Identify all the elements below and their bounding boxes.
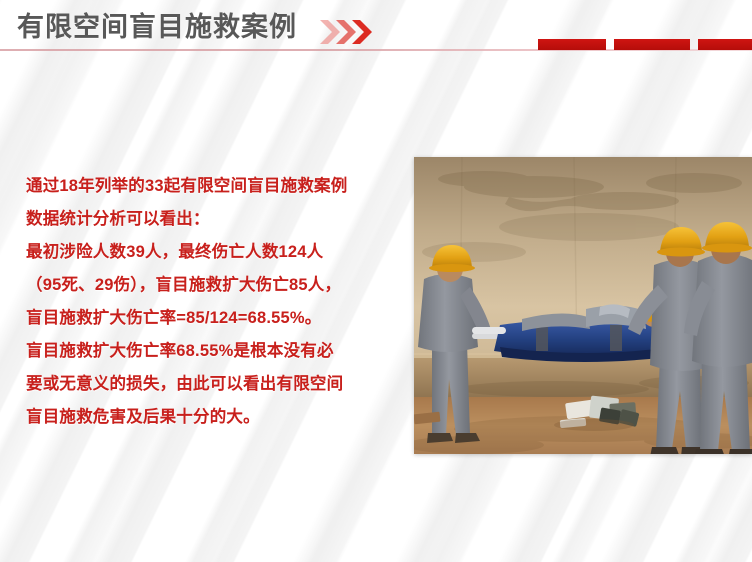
paragraph-line: 盲目施救扩大伤亡率=85/124=68.55%。 (26, 302, 408, 335)
accent-bar-gap (690, 39, 698, 50)
paragraph-line: 数据统计分析可以看出： (26, 203, 408, 236)
header-accent-bar (538, 39, 752, 50)
paragraph-line: 盲目施救扩大伤亡率68.55%是根本没有必 (26, 335, 408, 368)
rescue-photo (414, 157, 752, 454)
accent-bar-segment (698, 39, 752, 50)
paragraph-line: （95死、29伤），盲目施救扩大伤亡85人， (26, 269, 408, 302)
accent-bar-gap (606, 39, 614, 50)
paragraph-line: 盲目施救危害及后果十分的大。 (26, 401, 408, 434)
paragraph-line: 要或无意义的损失，由此可以看出有限空间 (26, 368, 408, 401)
page-title: 有限空间盲目施救案例 (17, 10, 297, 44)
paragraph-line: 通过18年列举的33起有限空间盲目施救案例 (26, 170, 408, 203)
accent-bar-segment (614, 39, 690, 50)
slide-header: 有限空间盲目施救案例 (0, 0, 752, 58)
slide-canvas: 有限空间盲目施救案例 通过18年列举的33起有限空间盲目施救案例 数据统计分析可… (0, 0, 752, 562)
triple-chevron-right-icon (318, 19, 378, 45)
accent-bar-segment (538, 39, 606, 50)
paragraph-line: 最初涉险人数39人，最终伤亡人数124人 (26, 236, 408, 269)
content-paragraph: 通过18年列举的33起有限空间盲目施救案例 数据统计分析可以看出： 最初涉险人数… (26, 170, 408, 434)
